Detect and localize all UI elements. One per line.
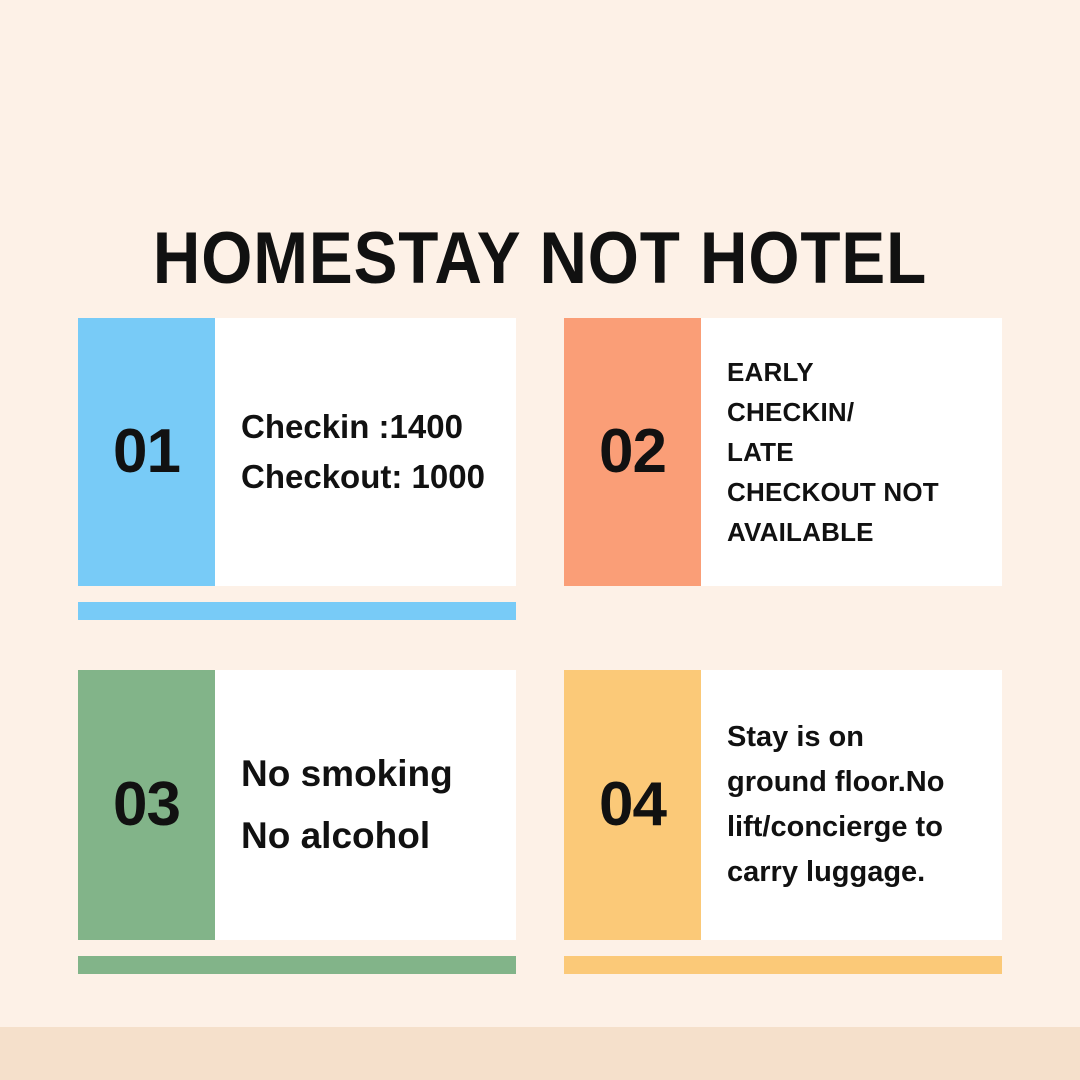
page-title: HOMESTAY NOT HOTEL xyxy=(54,211,1026,307)
card-04-number: 04 xyxy=(599,774,666,836)
card-01-number: 01 xyxy=(113,421,180,483)
card-03-body: No smoking No alcohol xyxy=(215,670,516,940)
card-02-number: 02 xyxy=(599,421,666,483)
card-04-number-block: 04 xyxy=(564,670,701,940)
card-03-number: 03 xyxy=(113,774,180,836)
card-01-accent-bar xyxy=(78,602,516,620)
card-02-body: EARLY CHECKIN/ LATE CHECKOUT NOT AVAILAB… xyxy=(701,318,1002,586)
poster-canvas: HOMESTAY NOT HOTEL 01 Checkin :1400 Chec… xyxy=(0,0,1080,1080)
card-01-number-block: 01 xyxy=(78,318,215,586)
card-01: 01 Checkin :1400 Checkout: 1000 xyxy=(78,318,516,586)
card-01-text: Checkin :1400 Checkout: 1000 xyxy=(241,402,485,502)
card-01-body: Checkin :1400 Checkout: 1000 xyxy=(215,318,516,586)
card-04-panel: 04 Stay is on ground floor.No lift/conci… xyxy=(564,670,1002,940)
card-03-number-block: 03 xyxy=(78,670,215,940)
card-04-text: Stay is on ground floor.No lift/concierg… xyxy=(727,715,944,895)
card-01-panel: 01 Checkin :1400 Checkout: 1000 xyxy=(78,318,516,586)
card-03-text: No smoking No alcohol xyxy=(241,743,453,867)
card-04: 04 Stay is on ground floor.No lift/conci… xyxy=(564,670,1002,940)
card-04-body: Stay is on ground floor.No lift/concierg… xyxy=(701,670,1002,940)
footer-band xyxy=(0,1027,1080,1080)
card-03-accent-bar xyxy=(78,956,516,974)
card-04-accent-bar xyxy=(564,956,1002,974)
card-02: 02 EARLY CHECKIN/ LATE CHECKOUT NOT AVAI… xyxy=(564,318,1002,586)
card-03-panel: 03 No smoking No alcohol xyxy=(78,670,516,940)
card-02-text: EARLY CHECKIN/ LATE CHECKOUT NOT AVAILAB… xyxy=(727,352,939,552)
card-02-number-block: 02 xyxy=(564,318,701,586)
card-03: 03 No smoking No alcohol xyxy=(78,670,516,940)
card-02-panel: 02 EARLY CHECKIN/ LATE CHECKOUT NOT AVAI… xyxy=(564,318,1002,586)
